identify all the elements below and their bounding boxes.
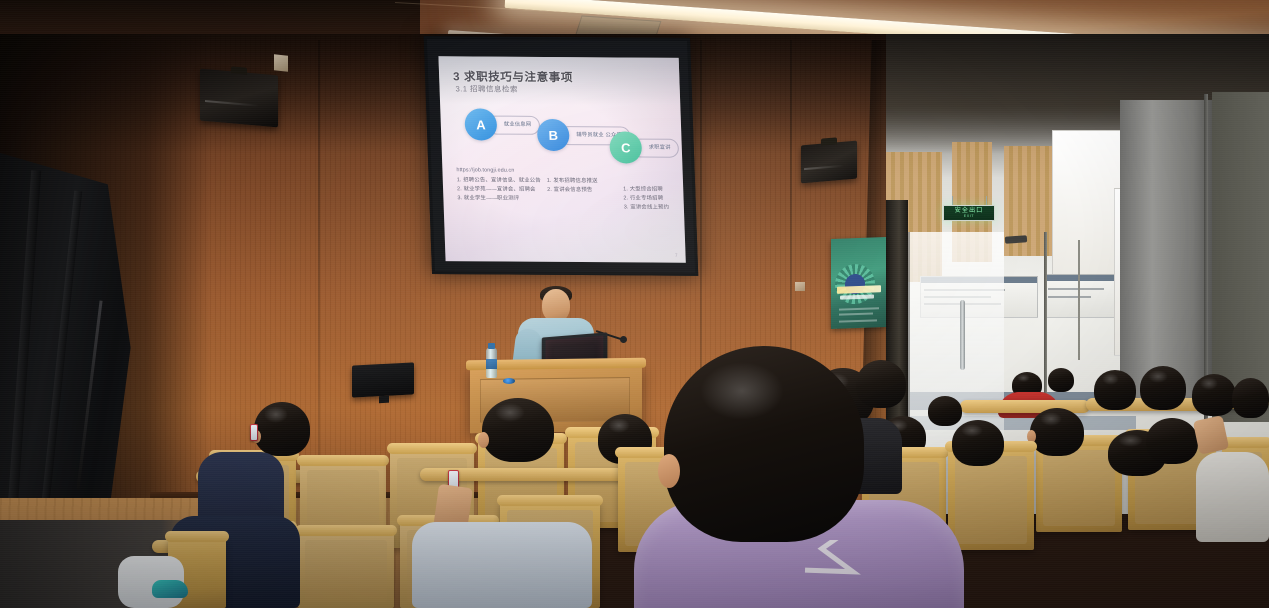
slide-column-a-line: 2. 就业学苑——宣讲会、招聘会 [457, 185, 543, 195]
audience-head [952, 420, 1004, 466]
slide-column-c-line: 1. 大型综合招聘 [623, 185, 683, 194]
door-handle[interactable] [960, 300, 965, 370]
slide-column-a: https://job.tongji.edu.cn 1. 招聘公告、宣讲信息、就… [456, 166, 543, 203]
poster-subtitle-band [840, 294, 874, 299]
speaker-grill [205, 100, 260, 107]
monitor-stand [379, 396, 389, 404]
slide-node-a-letter: A [464, 108, 497, 140]
shoe [152, 580, 188, 598]
exit-sign: 安全出口 EXIT [943, 205, 995, 221]
bottle-label [486, 359, 497, 369]
audience-phone[interactable] [250, 424, 258, 441]
poster-text-line [839, 312, 873, 315]
notice-board-right [1044, 274, 1124, 318]
slide-node-row: 就业信息网 A 辅导员就业 公众号 B 求职宣讲 C [440, 108, 682, 160]
wall-plate [274, 54, 288, 71]
audience-head [254, 402, 310, 456]
lecture-hall-photo: 3 求职技巧与注意事项 3.1 招聘信息检索 就业信息网 A 辅导员就业 公众号… [0, 0, 1269, 608]
slide-page-number: 7 [675, 253, 678, 258]
speaker-grill [804, 165, 843, 170]
water-bottle [486, 348, 497, 378]
audience-body [412, 522, 592, 608]
notice-line [1048, 288, 1104, 290]
desk-microphone [503, 378, 515, 384]
audience-body [1196, 452, 1269, 542]
slide-column-c: 1. 大型综合招聘 2. 行业专场招聘 3. 宣讲会线上预约 [623, 185, 684, 212]
speaker-bracket [231, 66, 247, 74]
foreground-person-head [664, 346, 864, 542]
slide-column-b: 1. 发布招聘信息推送 2. 宣讲会信息预告 [547, 177, 628, 195]
slide-column-b-line: 2. 宣讲会信息预告 [547, 186, 627, 195]
slide-node-c-letter: C [609, 131, 642, 163]
concrete-pillar-edge [1212, 92, 1269, 422]
projection-screen: 3 求职技巧与注意事项 3.1 招聘信息检索 就业信息网 A 辅导员就业 公众号… [424, 36, 699, 276]
poster-text-line [839, 307, 879, 310]
shirt-m-logo [778, 540, 882, 602]
exit-sign-label-en: EXIT [964, 214, 974, 219]
wall-speaker-left [200, 69, 278, 128]
audience-head [1192, 374, 1236, 416]
audience-head [482, 398, 554, 462]
slide-column-c-line: 3. 宣讲会线上预约 [624, 203, 684, 212]
audience-head [1030, 408, 1084, 456]
slide-url: https://job.tongji.edu.cn [456, 166, 542, 176]
audience-head [1232, 378, 1269, 418]
bottle-cap [488, 343, 495, 349]
wall-poster [831, 237, 886, 329]
audience-head [1094, 370, 1136, 410]
notice-line [1048, 296, 1091, 298]
confidence-monitor [352, 362, 414, 397]
slide-column-a-line: 1. 招聘公告、宣讲信息、就业公告 [457, 176, 543, 186]
slide-column-c-line: 2. 行业专场招聘 [623, 194, 683, 203]
audience-head [1140, 366, 1186, 410]
wall-switch-plate[interactable] [795, 282, 805, 291]
slide-column-b-line: 1. 发布招聘信息推送 [547, 177, 627, 186]
exterior-post [1044, 232, 1047, 407]
speaker-bracket [821, 137, 837, 145]
concrete-pillar [1120, 100, 1212, 410]
microphone-head [620, 336, 627, 343]
slide-subtitle: 3.1 招聘信息检索 [455, 83, 518, 94]
exterior-post-2 [1078, 240, 1080, 360]
slide-node-b-letter: B [537, 119, 570, 151]
wall-speaker-right [801, 141, 857, 184]
notice-board-header [1045, 275, 1123, 281]
poster-text-line [839, 319, 877, 322]
audience-head [1048, 368, 1074, 392]
audience-head [1146, 418, 1198, 464]
poster-title-band [837, 285, 881, 294]
slide-column-a-line: 3. 就业学生——职业测评 [457, 194, 543, 204]
projection-screen-surface: 3 求职技巧与注意事项 3.1 招聘信息检索 就业信息网 A 辅导员就业 公众号… [438, 56, 685, 263]
auditorium-seat[interactable] [298, 530, 394, 608]
